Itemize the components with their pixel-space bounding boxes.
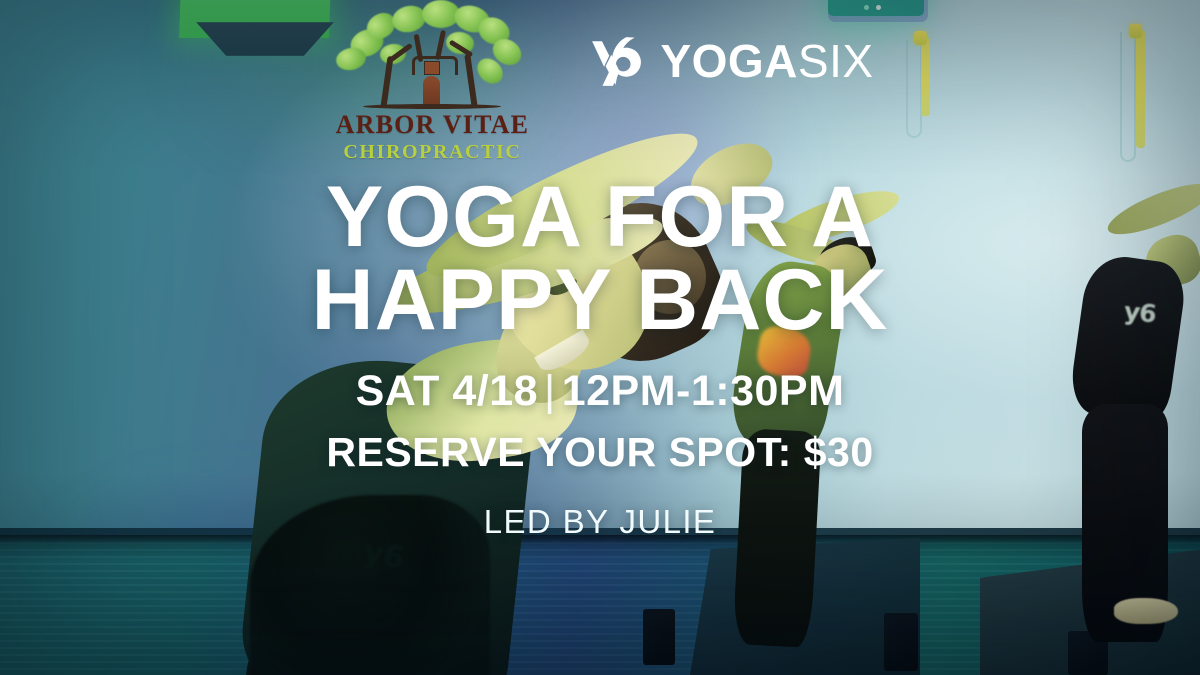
yogasix-word-light: SIX [798,35,874,87]
arbor-vitae-logo: ARBOR VITAE CHIROPRACTIC [326,4,538,165]
yogasix-logo: YOGASIX [590,34,873,88]
event-flyer: y6 y6 [0,0,1200,675]
student-torso [1067,252,1188,424]
student-feet [1114,598,1178,624]
yogasix-wordmark: YOGASIX [660,38,873,84]
y6-shirt-logo-icon: y6 [1123,296,1158,328]
yogasix-word-bold: YOGA [660,35,797,87]
background-student-center [714,196,904,636]
logo-row: ARBOR VITAE CHIROPRACTIC YOGASIX [0,4,1200,165]
tree-house-icon [326,4,538,112]
arbor-vitae-name: ARBOR VITAE [326,112,538,138]
arbor-vitae-subtitle: CHIROPRACTIC [326,140,538,165]
ground-line [363,104,501,109]
y6-monogram-icon [590,34,642,88]
foreground-silhouette [250,495,490,675]
background-student-right: y6 [1068,192,1200,642]
house-icon [410,56,454,104]
student-legs [732,428,821,648]
